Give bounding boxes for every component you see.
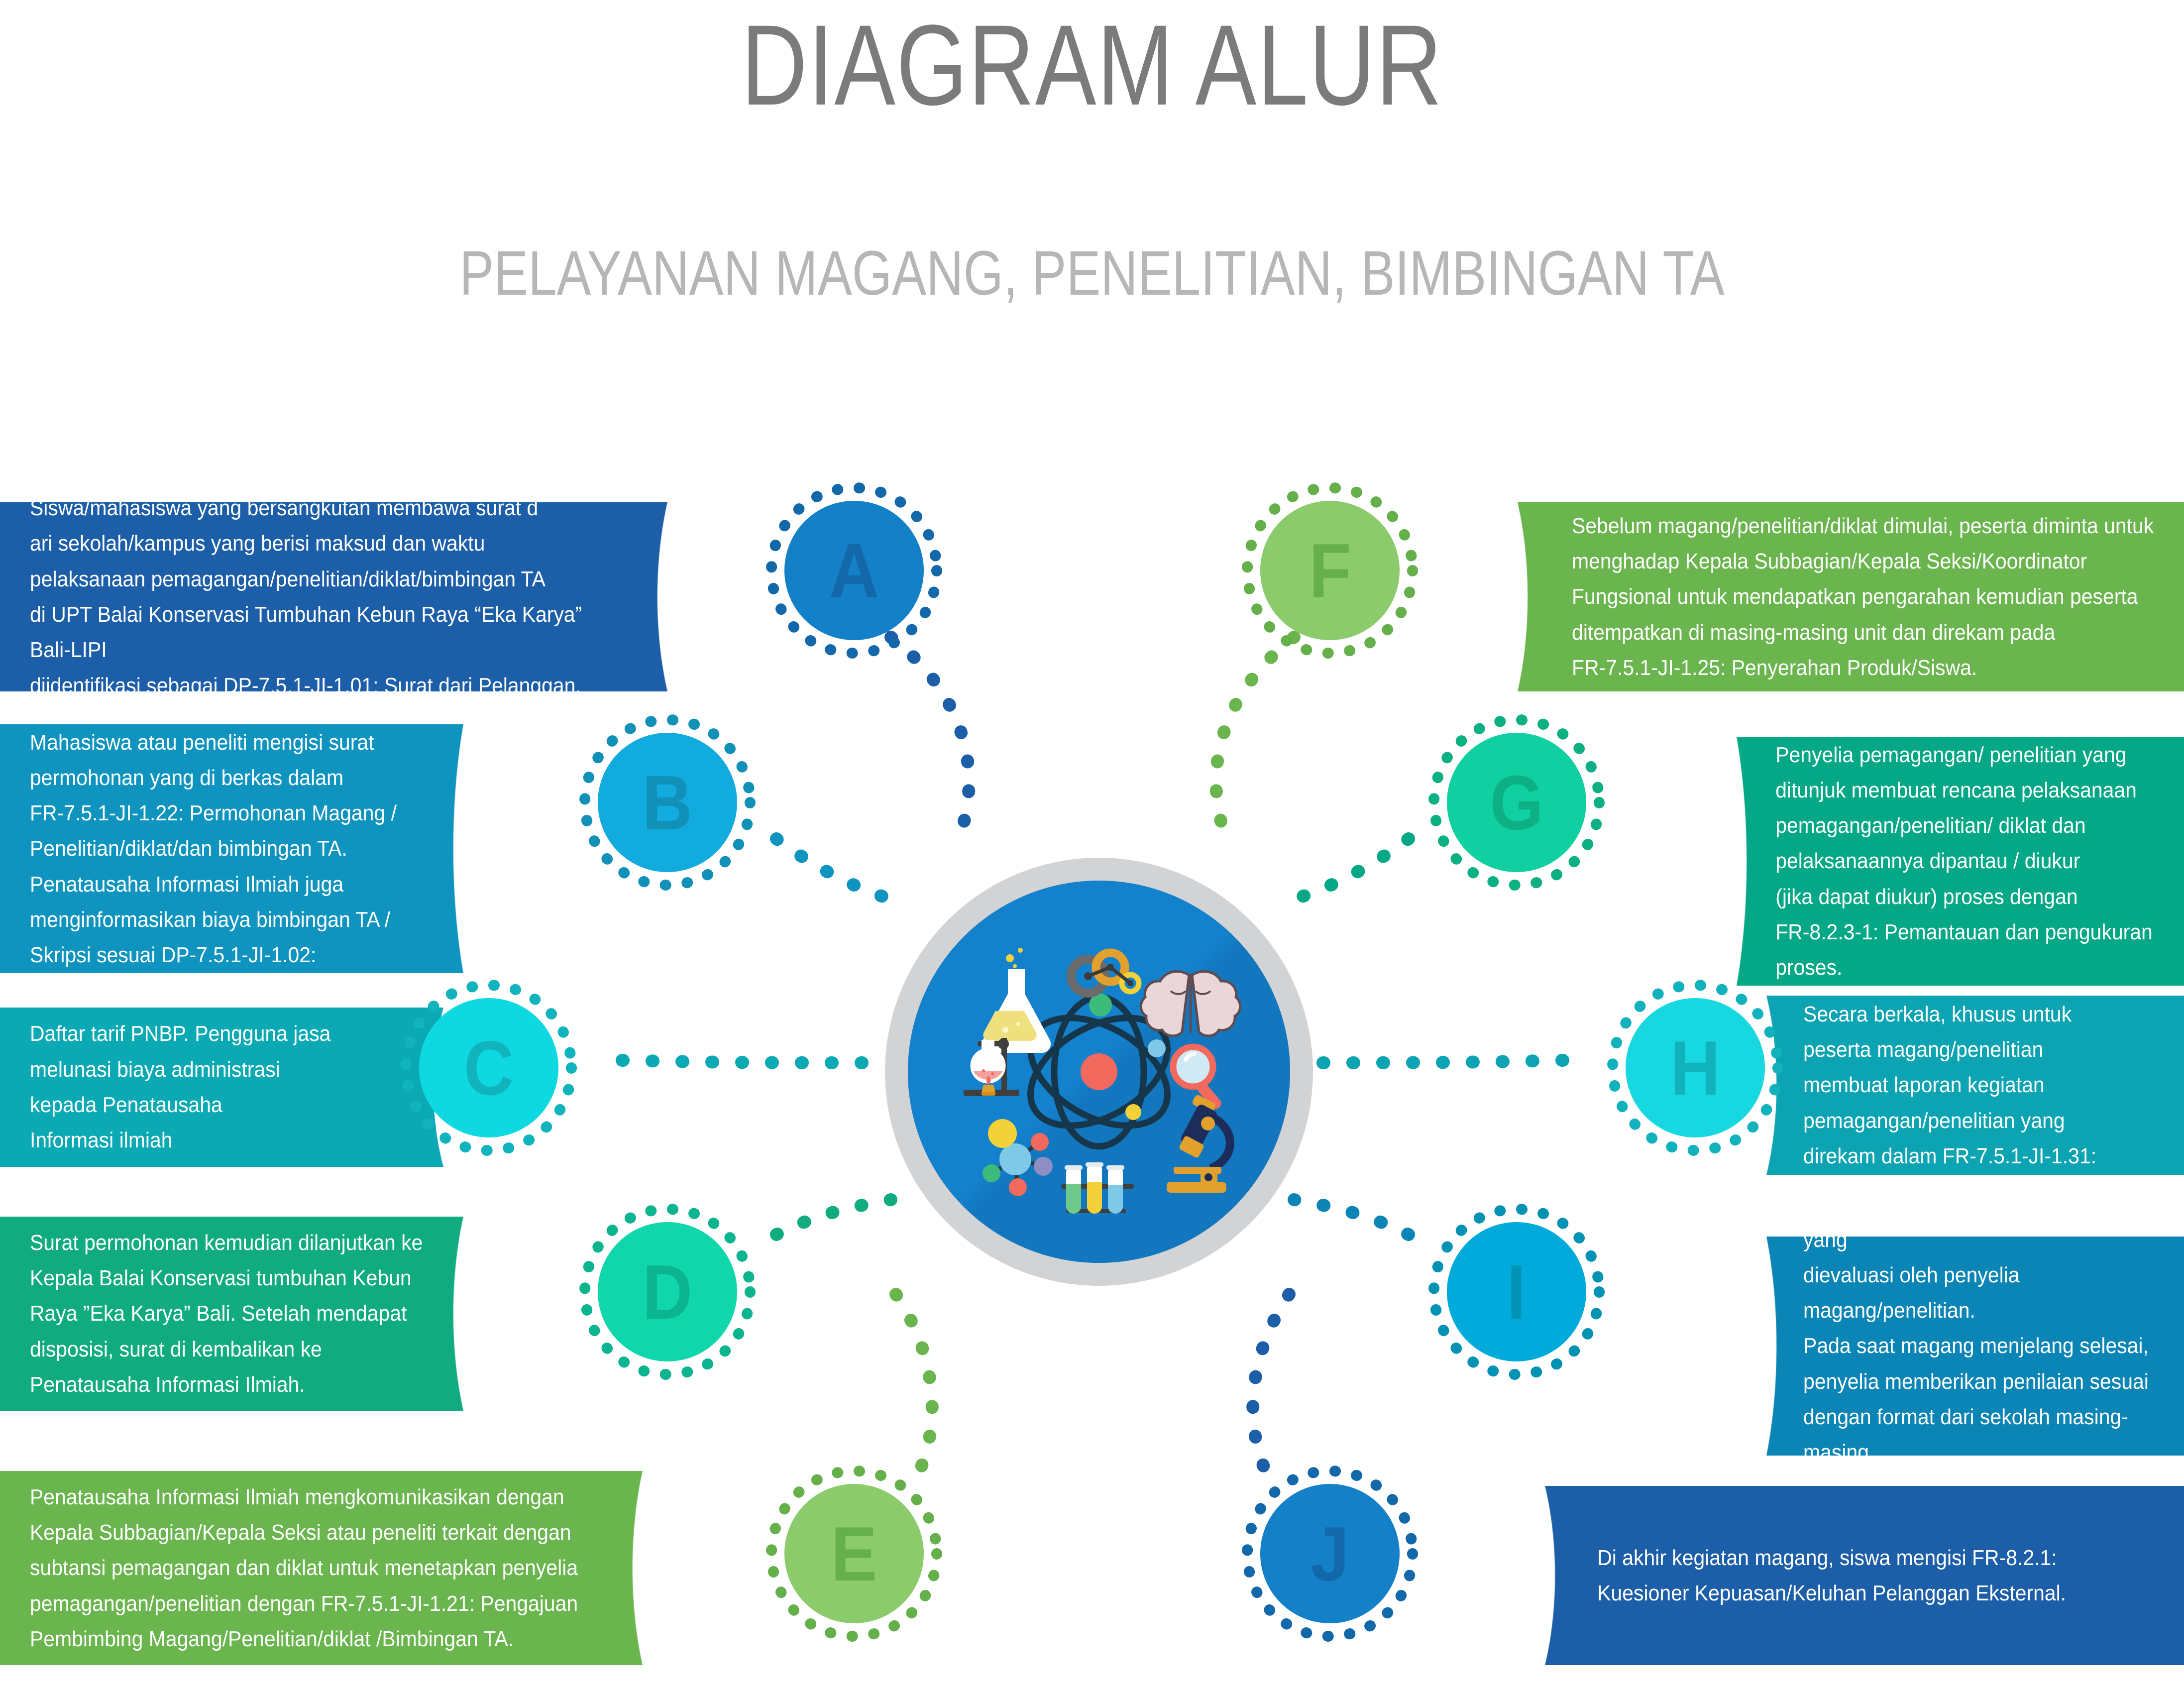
step-banner-a: Siswa/mahasiswa yang bersangkutan membaw…	[0, 502, 732, 691]
step-node-c[interactable]: C	[397, 976, 581, 1160]
step-text-g: Penyelia pemagangan/ penelitian yang dit…	[1775, 737, 2154, 986]
step-letter-e: E	[831, 1515, 877, 1592]
step-letter-i: I	[1507, 1253, 1527, 1331]
step-banner-b: Mahasiswa atau peneliti mengisi surat pe…	[0, 724, 528, 973]
step-disc-h: H	[1626, 998, 1765, 1137]
step-banner-e: Penatausaha Informasi Ilmiah mengkomunik…	[0, 1471, 707, 1665]
step-node-d[interactable]: D	[575, 1200, 760, 1384]
infographic-canvas: DIAGRAM ALUR PELAYANAN MAGANG, PENELITIA…	[0, 0, 2184, 1692]
step-disc-i: I	[1447, 1222, 1586, 1361]
step-letter-b: B	[643, 764, 693, 841]
step-letter-h: H	[1670, 1029, 1721, 1107]
step-letter-j: J	[1310, 1515, 1349, 1592]
page-subtitle: PELAYANAN MAGANG, PENELITIAN, BIMBINGAN …	[197, 239, 1987, 308]
step-text-b: Mahasiswa atau peneliti mengisi surat pe…	[30, 725, 424, 973]
brain-icon	[1141, 971, 1240, 1036]
step-letter-a: A	[829, 532, 879, 609]
step-text-j: Di akhir kegiatan magang, siswa mengisi …	[1597, 1540, 2154, 1611]
step-node-f[interactable]: F	[1238, 478, 1422, 663]
hub-inner-circle	[908, 881, 1290, 1263]
step-disc-d: D	[598, 1222, 737, 1361]
step-disc-a: A	[784, 501, 924, 640]
step-banner-d: Surat permohonan kemudian dilanjutkan ke…	[0, 1217, 528, 1411]
step-text-i: Logbook Kegiatan Magang/Penelitian yang …	[1803, 1186, 2154, 1505]
step-disc-f: F	[1260, 501, 1400, 640]
step-text-a: Siswa/mahasiswa yang bersangkutan membaw…	[30, 490, 613, 703]
page-title: DIAGRAM ALUR	[218, 5, 1966, 125]
step-node-i[interactable]: I	[1424, 1200, 1609, 1384]
step-disc-j: J	[1260, 1484, 1400, 1623]
science-illustration	[908, 881, 1290, 1263]
step-disc-b: B	[598, 733, 737, 872]
step-banner-j: Di akhir kegiatan magang, siswa mengisi …	[1481, 1486, 2184, 1665]
step-node-e[interactable]: E	[762, 1462, 946, 1646]
step-text-d: Surat permohonan kemudian dilanjutkan ke…	[30, 1225, 424, 1402]
step-text-f: Sebelum magang/penelitian/diklat dimulai…	[1572, 508, 2154, 685]
step-node-h[interactable]: H	[1603, 976, 1787, 1160]
step-text-c: Daftar tarif PNBP. Pengguna jasa melunas…	[30, 1016, 405, 1158]
step-node-g[interactable]: G	[1424, 710, 1609, 895]
step-text-e: Penatausaha Informasi Ilmiah mengkomunik…	[30, 1479, 590, 1657]
step-node-b[interactable]: B	[575, 710, 760, 895]
center-hub	[885, 858, 1313, 1286]
step-letter-d: D	[643, 1253, 693, 1331]
step-disc-e: E	[784, 1484, 924, 1623]
step-letter-f: F	[1309, 532, 1351, 609]
step-letter-g: G	[1490, 764, 1544, 841]
step-node-j[interactable]: J	[1238, 1462, 1422, 1646]
step-banner-f: Sebelum magang/penelitian/diklat dimulai…	[1453, 502, 2184, 691]
step-text-h: Secara berkala, khusus untuk peserta mag…	[1803, 997, 2154, 1174]
step-letter-c: C	[464, 1029, 514, 1107]
step-banner-g: Penyelia pemagangan/ penelitian yang dit…	[1672, 737, 2184, 986]
step-disc-c: C	[419, 998, 558, 1137]
step-banner-i: Logbook Kegiatan Magang/Penelitian yang …	[1702, 1237, 2184, 1456]
step-node-a[interactable]: A	[762, 478, 946, 663]
step-disc-g: G	[1447, 733, 1586, 872]
